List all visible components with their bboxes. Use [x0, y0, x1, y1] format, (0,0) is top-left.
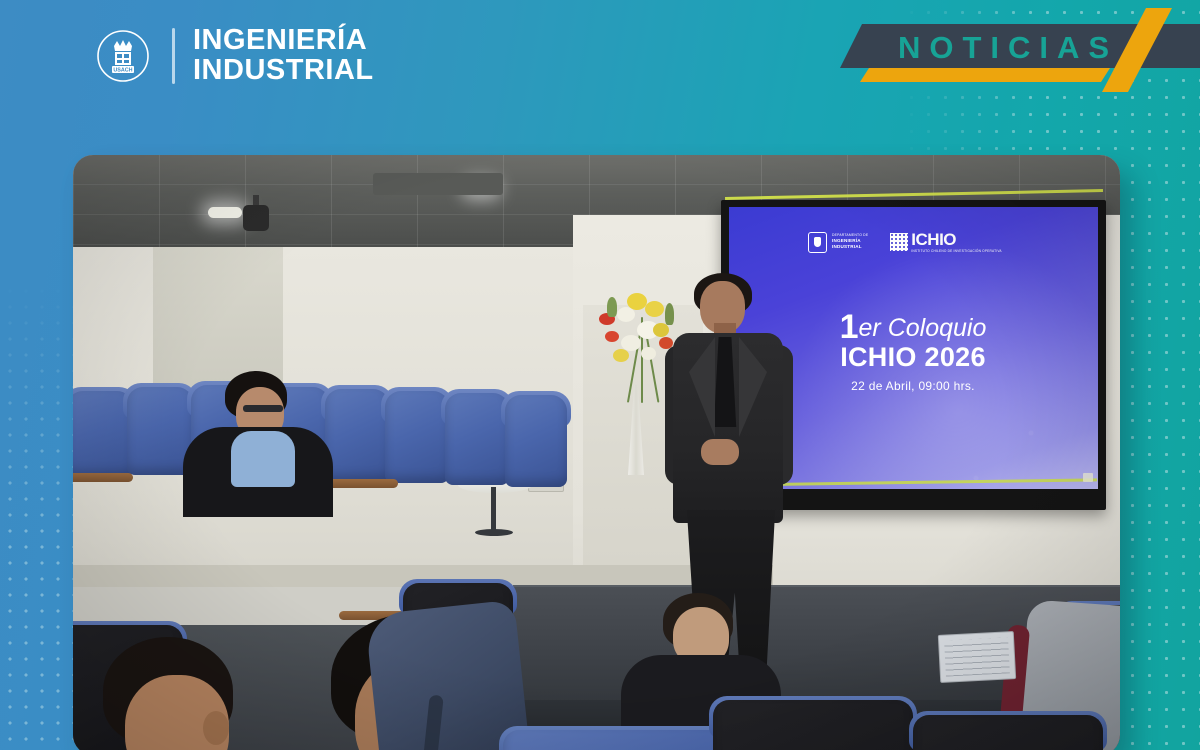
slide-title-numeral: 1 — [840, 308, 859, 346]
brand-divider — [172, 28, 175, 84]
slide-title-line-1: 1er Coloquio — [733, 310, 1093, 345]
eyeglasses-icon — [243, 405, 283, 412]
banner-label: NOTICIAS — [898, 30, 1118, 66]
speaker-hands — [701, 439, 739, 465]
slide-logo-ichio: ICHIO INSTITUTO CHILENO DE INVESTIGACIÓN… — [890, 231, 1001, 253]
event-photo: DEPARTAMENTO DE INGENIERÍA INDUSTRIAL IC… — [73, 155, 1120, 750]
seat — [385, 391, 449, 483]
seat — [713, 700, 913, 750]
side-table-leg — [491, 487, 496, 533]
news-banner-graphic: USACH INGENIERÍA INDUSTRIAL NOTICIAS — [0, 0, 1200, 750]
seat — [505, 395, 567, 487]
usach-seal-icon — [808, 232, 827, 253]
banner-yellow-bar — [860, 68, 1110, 82]
projector-icon — [243, 205, 269, 231]
ceiling-vent — [373, 173, 503, 195]
svg-text:USACH: USACH — [113, 67, 132, 73]
backpack — [365, 600, 531, 750]
slide-title-suffix: er Coloquio — [859, 314, 987, 342]
seat — [445, 393, 509, 485]
ichio-subtitle: INSTITUTO CHILENO DE INVESTIGACIÓN OPERA… — [911, 249, 1001, 253]
seat — [913, 715, 1103, 750]
brand-line-1: INGENIERÍA — [193, 26, 374, 56]
brand-line-2: INDUSTRIAL — [193, 56, 374, 86]
dii-line-3: INDUSTRIAL — [832, 244, 868, 251]
seat — [503, 730, 743, 750]
seat — [325, 389, 389, 481]
ichio-wordmark: ICHIO — [911, 231, 1001, 248]
slide-logos: DEPARTAMENTO DE INGENIERÍA INDUSTRIAL IC… — [808, 227, 1018, 257]
side-table-base — [475, 529, 513, 536]
laptop-screen — [938, 631, 1016, 683]
seat-armrest — [73, 473, 133, 482]
usach-crest-icon: USACH — [96, 29, 150, 83]
ichio-mark-icon — [890, 233, 908, 251]
ceiling-light — [208, 207, 242, 218]
brand-title: INGENIERÍA INDUSTRIAL — [193, 26, 374, 85]
person-ear — [203, 711, 229, 745]
dii-line-2: INGENIERÍA — [832, 238, 868, 245]
screen-corner-badge — [1083, 473, 1093, 482]
brand-lockup: USACH INGENIERÍA INDUSTRIAL — [96, 26, 374, 85]
ichio-text-block: ICHIO INSTITUTO CHILENO DE INVESTIGACIÓN… — [911, 231, 1001, 253]
slide-dii-text: DEPARTAMENTO DE INGENIERÍA INDUSTRIAL — [832, 233, 868, 251]
person-shirt — [231, 431, 295, 487]
slide-logo-dii: DEPARTAMENTO DE INGENIERÍA INDUSTRIAL — [808, 232, 868, 253]
